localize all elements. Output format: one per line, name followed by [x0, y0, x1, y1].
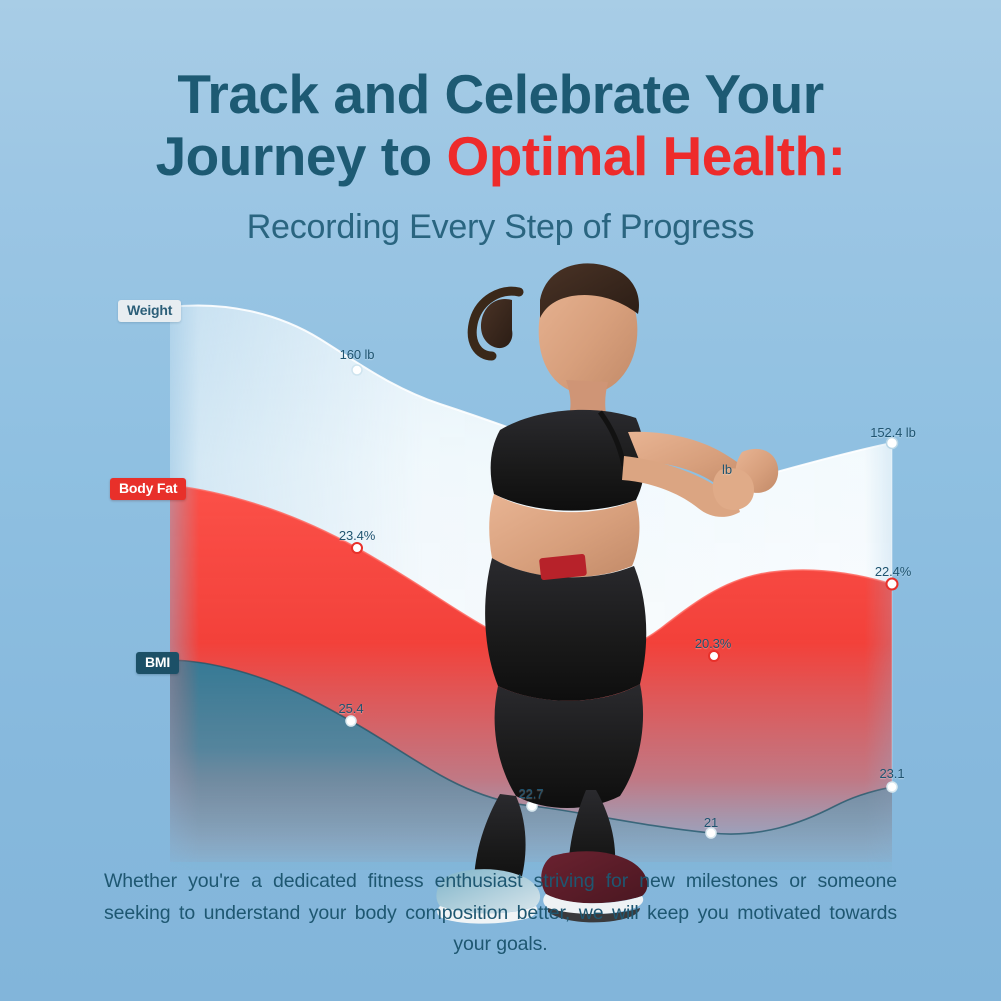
data-label-bodyfat-3: 22.4%: [875, 564, 911, 579]
body-composition-chart: Weight Body Fat BMI 160 lb lb 152.4 lb 2…: [0, 0, 1001, 1001]
data-point-bodyfat-2[interactable]: [709, 651, 719, 661]
poster-canvas: Track and Celebrate Your Journey to Opti…: [0, 0, 1001, 1001]
data-point-bmi-1[interactable]: [346, 716, 356, 726]
data-point-bodyfat-3[interactable]: [887, 579, 898, 590]
chart-svg: [0, 0, 1001, 1001]
data-label-bodyfat-1: 23.4%: [339, 528, 375, 543]
data-label-weight-2: lb: [722, 462, 732, 477]
data-label-weight-1: 160 lb: [340, 347, 375, 362]
footer-paragraph: Whether you're a dedicated fitness enthu…: [104, 866, 897, 961]
data-label-bodyfat-2: 20.3%: [695, 636, 731, 651]
data-label-bmi-3: 21: [704, 815, 718, 830]
data-point-bmi-4[interactable]: [887, 782, 897, 792]
series-badge-bmi[interactable]: BMI: [136, 652, 179, 674]
data-point-weight-1[interactable]: [352, 365, 362, 375]
data-label-bmi-2: 22.7: [519, 786, 544, 801]
series-badge-weight[interactable]: Weight: [118, 300, 181, 322]
data-point-bodyfat-1[interactable]: [352, 543, 362, 553]
data-label-weight-3: 152.4 lb: [870, 425, 915, 440]
data-label-bmi-4: 23.1: [880, 766, 905, 781]
series-badge-body-fat[interactable]: Body Fat: [110, 478, 186, 500]
data-label-bmi-1: 25.4: [339, 701, 364, 716]
